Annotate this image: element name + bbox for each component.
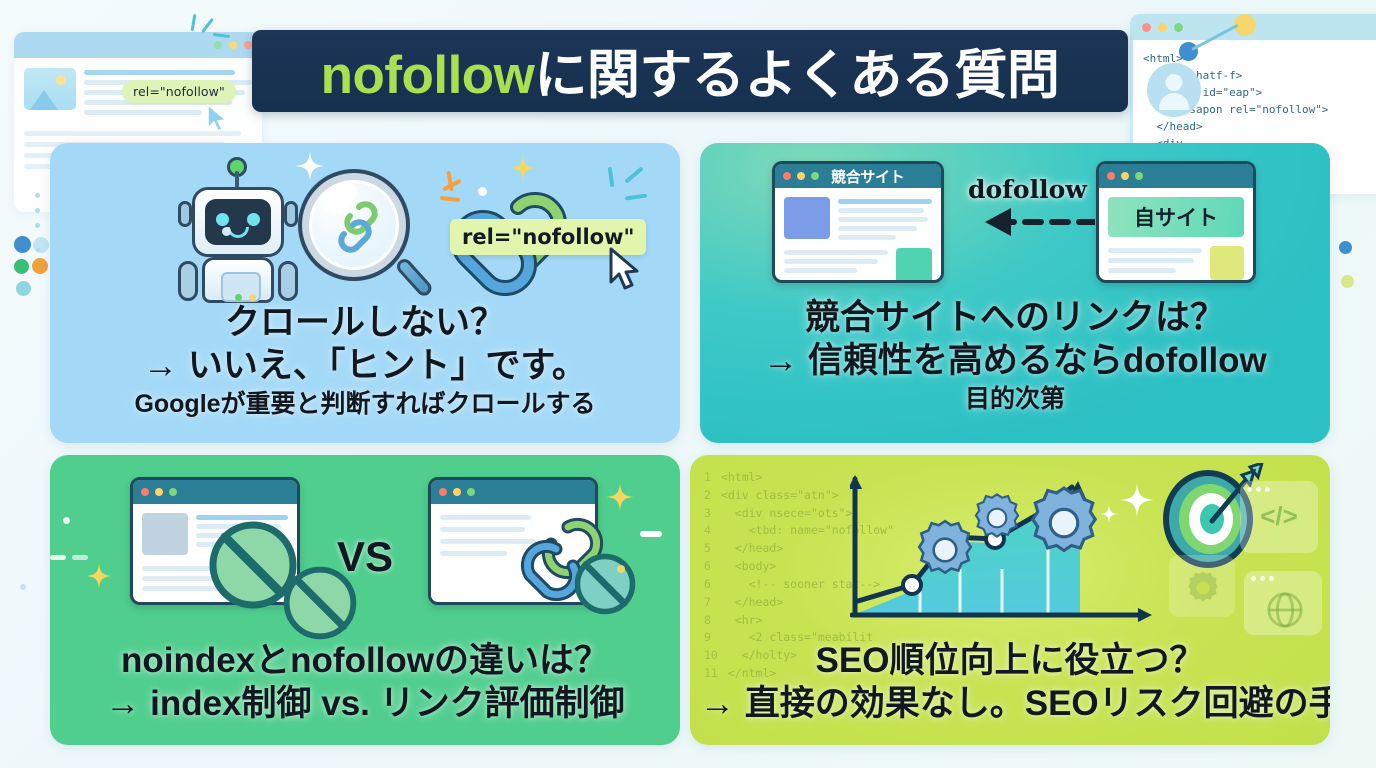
deco-dot-6: [35, 193, 40, 198]
page-title-highlight: nofollow: [321, 46, 535, 105]
vs-label: VS: [337, 533, 393, 581]
competitor-site-window: 競合サイト: [772, 161, 944, 283]
card-seo-answer: → 直接の効果なし。SEOリスク回避の手段: [700, 684, 1320, 723]
card-crawl[interactable]: rel="nofollow" クロールしない？ → いいえ、「ヒント」です。 G…: [50, 143, 680, 443]
sparkle-dot-icon: [478, 187, 487, 196]
deco-dot-card3-1: [63, 517, 70, 524]
competitor-window-content: [775, 188, 941, 283]
page-title-banner: nofollowに関するよくある質問: [252, 30, 1128, 112]
sparkle-lines-icon: [188, 10, 228, 50]
card-crawl-answer: → いいえ、「ヒント」です。: [60, 346, 670, 385]
globe-glass-card: [1244, 571, 1322, 635]
gear-icon-4: [1184, 569, 1222, 607]
card-crawl-note: Googleが重要と判断すればクロールする: [60, 390, 670, 418]
deco-dot-5: [16, 281, 31, 296]
deco-dot-12: [1341, 275, 1354, 288]
card-competitor-note: 目的次第: [710, 385, 1320, 413]
nofollow-window-titlebar: [431, 480, 595, 504]
own-window-content: 自サイト: [1099, 188, 1253, 283]
card-crawl-heading: クロールしない？: [60, 303, 670, 342]
dofollow-label: dofollow: [968, 175, 1087, 204]
no-entry-icon-3: [572, 551, 638, 617]
robot-icon: [178, 157, 298, 297]
card-crawl-illustration: rel="nofollow": [50, 143, 680, 293]
dofollow-arrow-icon: [955, 201, 1095, 243]
user-avatar-icon: [1147, 63, 1201, 117]
globe-icon: [1266, 591, 1304, 629]
dash-left-2: [72, 555, 88, 560]
deco-dot-8: [35, 223, 40, 228]
deco-dot-card3-2: [617, 565, 625, 573]
card-seo-text: SEO順位向上に役立つ？ → 直接の効果なし。SEOリスク回避の手段: [690, 641, 1330, 723]
sparkle-white-2-icon: [1120, 483, 1154, 517]
card-seo[interactable]: 1<html>2<div class="atn">3 <div nsece="o…: [690, 455, 1330, 745]
card-noindex-heading: noindexとnofollowの違いは？: [60, 641, 670, 680]
card-noindex-illustration: VS: [50, 455, 680, 630]
magnifying-glass-icon: [302, 173, 420, 298]
chain-link-small-icon: [328, 201, 384, 253]
gear-icon-2: [970, 491, 1024, 545]
deco-dot-3: [14, 259, 29, 274]
card-competitor-answer: → 信頼性を高めるならdofollow: [710, 341, 1320, 380]
own-window-title: 自サイト: [1134, 202, 1218, 232]
sparkle-yellow-3-icon: [86, 563, 112, 589]
image-placeholder-icon: [24, 68, 76, 110]
card-competitor[interactable]: 競合サイト: [700, 143, 1330, 443]
cursor-pointer-icon: [606, 246, 646, 294]
background-rel-nofollow-pill: rel="nofollow": [122, 80, 236, 103]
dash-right-1: [640, 531, 662, 537]
card-crawl-text: クロールしない？ → いいえ、「ヒント」です。 Googleが重要と判断すればク…: [50, 303, 680, 418]
gear-glass-card: [1169, 555, 1235, 617]
card-noindex-answer: → index制御 vs. リンク評価制御: [60, 684, 670, 723]
deco-dot-1: [14, 236, 31, 253]
deco-dot-7: [35, 208, 40, 213]
card-noindex[interactable]: VS: [50, 455, 680, 745]
dash-left-1: [50, 555, 66, 560]
gear-icon-1: [912, 517, 978, 583]
noindex-window-titlebar: [133, 480, 297, 504]
sparkle-white-icon: [295, 151, 325, 181]
deco-dot-4: [32, 258, 48, 274]
deco-dot-11: [1339, 241, 1352, 254]
deco-dot-10: [20, 584, 26, 590]
card-noindex-text: noindexとnofollowの違いは？ → index制御 vs. リンク評…: [50, 641, 680, 723]
own-site-window: 自サイト: [1096, 161, 1256, 283]
gear-icon-3: [1024, 483, 1104, 563]
card-competitor-text: 競合サイトへのリンクは？ → 信頼性を高めるならdofollow 目的次第: [700, 298, 1330, 413]
cursor-icon: [205, 103, 231, 135]
card-competitor-illustration: 競合サイト: [700, 143, 1330, 293]
card-seo-heading: SEO順位向上に役立つ？: [700, 641, 1320, 680]
card-competitor-heading: 競合サイトへのリンクは？: [710, 298, 1320, 337]
burst-blue-icon: [605, 167, 651, 213]
card-seo-illustration: 1<html>2<div class="atn">3 <div nsece="o…: [690, 455, 1330, 635]
sparkle-yellow-2-icon: [606, 483, 634, 511]
page-title: nofollowに関するよくある質問: [321, 33, 1060, 109]
sparkle-yellow-icon: [510, 155, 536, 181]
own-window-titlebar: [1099, 164, 1253, 188]
competitor-window-title: 競合サイト: [831, 166, 905, 187]
code-tag-icon: </>: [1240, 501, 1318, 532]
page-title-rest: に関するよくある質問: [534, 46, 1059, 105]
sparkle-dot-2-icon: [222, 227, 231, 236]
sparkle-white-3-icon: [1100, 505, 1118, 523]
deco-dot-9: [36, 248, 40, 252]
code-glass-card: </>: [1240, 481, 1318, 553]
competitor-window-titlebar: 競合サイト: [775, 164, 941, 188]
